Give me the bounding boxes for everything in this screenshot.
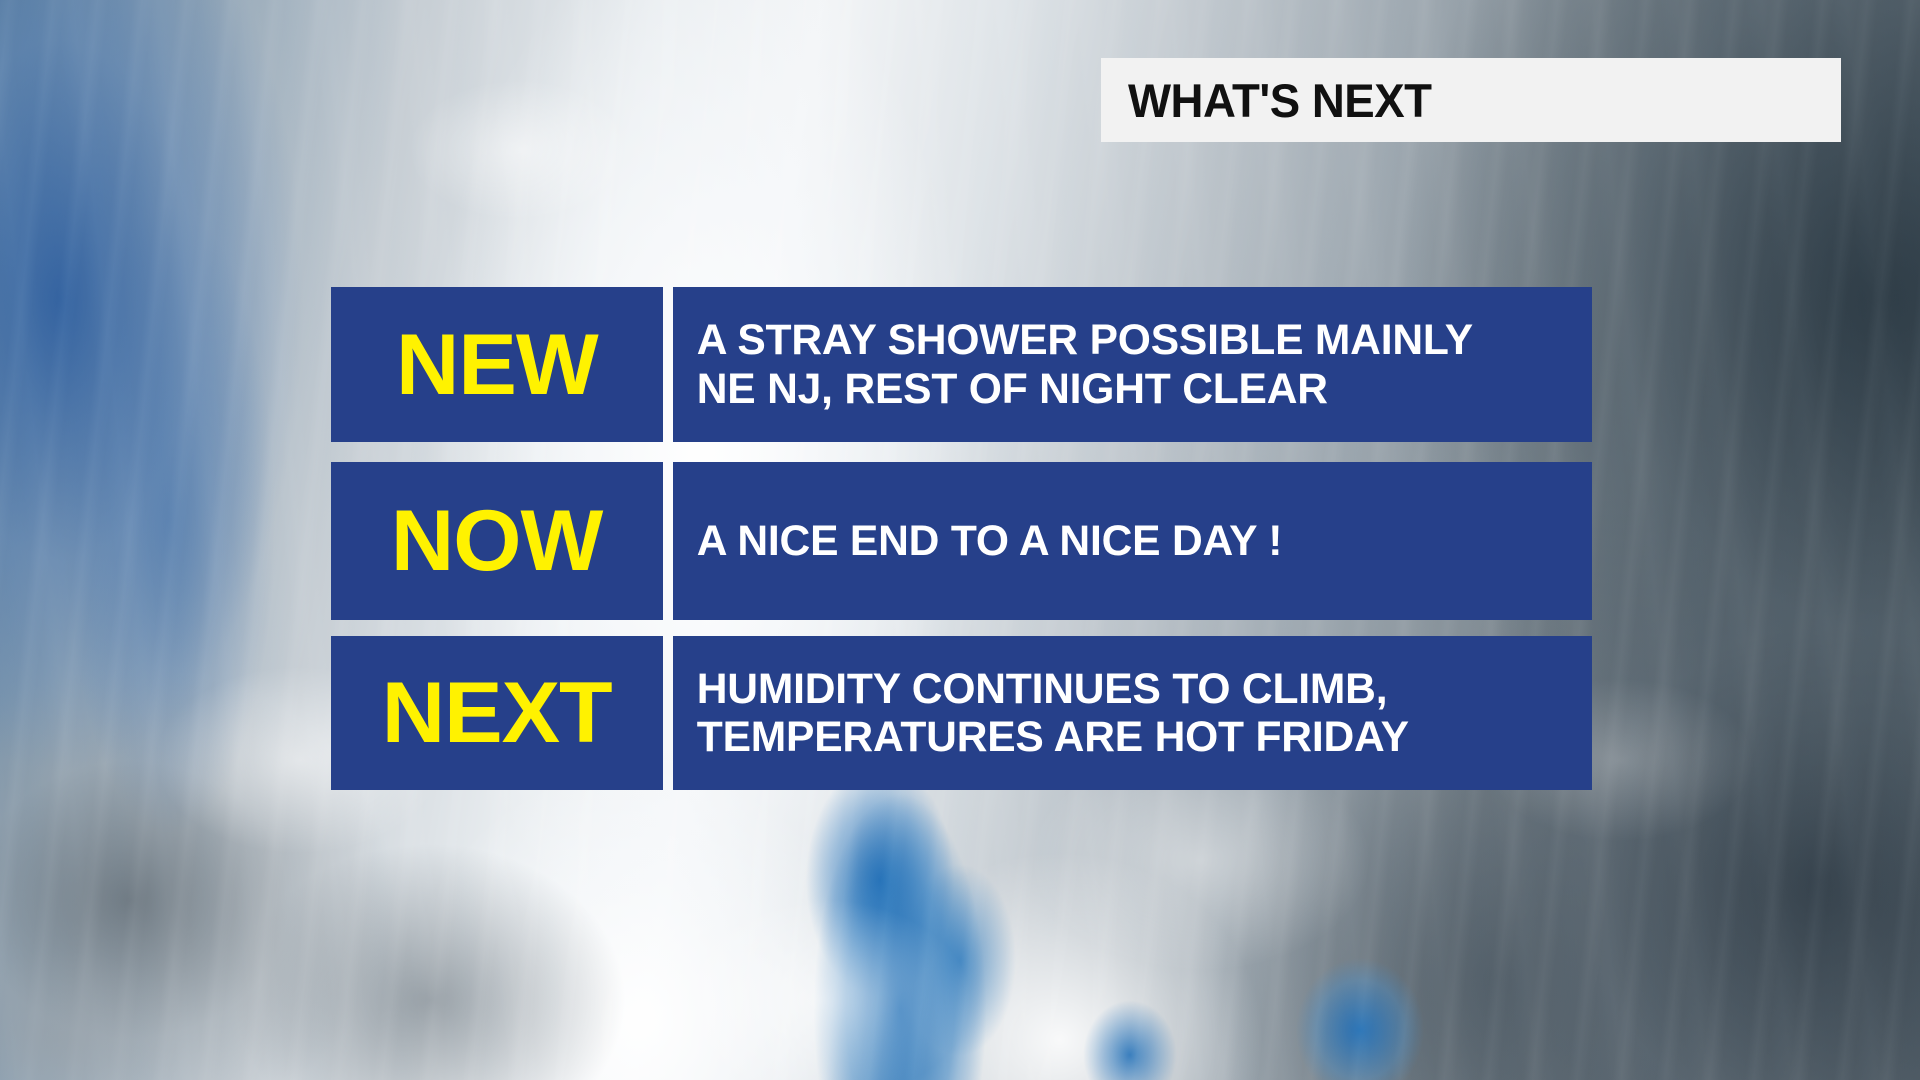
row-message-line-2: NE NJ, REST OF NIGHT CLEAR [697,365,1473,413]
row-message-text: A STRAY SHOWER POSSIBLE MAINLY NE NJ, RE… [673,316,1485,412]
row-label-badge-new: NEW [331,287,663,442]
row-label-badge-now: NOW [331,462,663,620]
row-message-line-1: A NICE END TO A NICE DAY ! [697,517,1282,565]
row-message-line-2: TEMPERATURES ARE HOT FRIDAY [697,713,1409,761]
row-label-text: NOW [391,498,602,584]
row-message-panel-new: A STRAY SHOWER POSSIBLE MAINLY NE NJ, RE… [673,287,1592,442]
row-message-panel-now: A NICE END TO A NICE DAY ! [673,462,1592,620]
page-title: WHAT'S NEXT [1128,77,1432,124]
header-bar: WHAT'S NEXT [1101,58,1841,142]
row-message-text: A NICE END TO A NICE DAY ! [673,517,1294,565]
weather-graphic-stage: WHAT'S NEXT NEW A STRAY SHOWER POSSIBLE … [0,0,1920,1080]
row-message-line-1: HUMIDITY CONTINUES TO CLIMB, [697,665,1409,713]
row-message-text: HUMIDITY CONTINUES TO CLIMB, TEMPERATURE… [673,665,1421,761]
row-label-text: NEW [396,322,598,408]
row-message-line-1: A STRAY SHOWER POSSIBLE MAINLY [697,316,1473,364]
row-message-panel-next: HUMIDITY CONTINUES TO CLIMB, TEMPERATURE… [673,636,1592,790]
row-label-text: NEXT [382,670,612,756]
row-label-badge-next: NEXT [331,636,663,790]
